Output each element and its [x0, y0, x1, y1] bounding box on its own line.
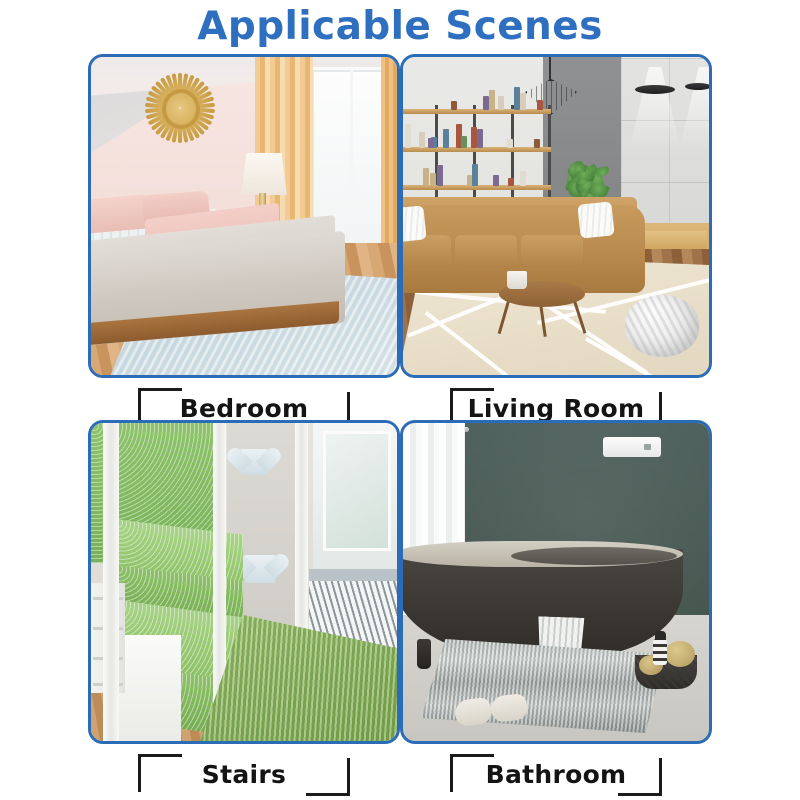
- shelf-item: [489, 90, 495, 110]
- shelf-item: [477, 129, 483, 148]
- shelf-board: [400, 109, 551, 114]
- scene-card-bedroom[interactable]: Bedroom: [88, 54, 408, 434]
- shelf-item: [430, 173, 436, 186]
- scene-label: Bathroom: [400, 748, 712, 800]
- scene-label: Stairs: [88, 748, 400, 800]
- shelf-item: [423, 168, 429, 186]
- shelf-item: [520, 171, 526, 186]
- shelf-item: [451, 101, 457, 110]
- stairs-photo[interactable]: [88, 420, 400, 744]
- shelf-item: [428, 138, 434, 148]
- scene-card-bathroom[interactable]: Bathroom: [400, 420, 720, 800]
- table-lamp-shade: [241, 153, 287, 195]
- shelf-item: [405, 124, 411, 148]
- shelf-item: [472, 164, 478, 186]
- table-plant: [495, 243, 539, 287]
- bathroom-scene-art: [403, 423, 709, 741]
- ceiling-lamp: [635, 85, 675, 94]
- shelf-item: [508, 178, 514, 186]
- stair-riser: [117, 635, 181, 743]
- caption-bathroom: Bathroom: [400, 748, 712, 800]
- shelf-item: [483, 96, 489, 110]
- scene-card-living-room[interactable]: Living Room: [400, 54, 720, 434]
- heart-cutout-icon: [241, 449, 267, 475]
- mirror-glass: [162, 89, 200, 129]
- tub-interior: [511, 547, 677, 565]
- shelf-item: [443, 129, 449, 148]
- white-throw-pillow: [400, 205, 427, 242]
- shelf-item: [507, 139, 513, 148]
- shelf-item: [493, 175, 499, 186]
- living-room-scene-art: [403, 57, 709, 375]
- dresser-drawer: [643, 231, 707, 251]
- ceiling-lamp: [685, 83, 711, 90]
- knitted-pouf: [625, 295, 699, 357]
- plant-pot: [507, 271, 527, 289]
- light-switch: [603, 437, 661, 457]
- page-title: Applicable Scenes: [0, 0, 800, 52]
- shelf-item: [498, 96, 504, 110]
- tub-foot: [417, 639, 431, 669]
- bedroom-photo[interactable]: [88, 54, 400, 378]
- sunburst-mirror: [143, 71, 217, 145]
- shelf-item: [461, 136, 467, 148]
- heart-cutout-icon: [245, 555, 275, 583]
- shelf-item: [437, 165, 443, 186]
- shelf-item: [520, 93, 526, 110]
- shelf-upright: [400, 105, 402, 265]
- shelf-item: [534, 139, 540, 148]
- bathroom-photo[interactable]: [400, 420, 712, 744]
- living-room-photo[interactable]: [400, 54, 712, 378]
- shelf-item: [537, 100, 543, 110]
- pendant-cord: [549, 57, 551, 81]
- scene-card-stairs[interactable]: Stairs: [88, 420, 408, 800]
- soap-dispenser: [653, 639, 667, 665]
- scene-grid: Bedroom: [0, 54, 800, 800]
- stairs-scene-art: [91, 423, 397, 741]
- shelf-item: [419, 132, 425, 148]
- bedroom-scene-art: [91, 57, 397, 375]
- white-throw-pillow: [577, 201, 614, 238]
- stairs-window: [323, 431, 391, 551]
- caption-stairs: Stairs: [88, 748, 400, 800]
- balustrade-post: [103, 423, 119, 741]
- sponge: [665, 641, 695, 667]
